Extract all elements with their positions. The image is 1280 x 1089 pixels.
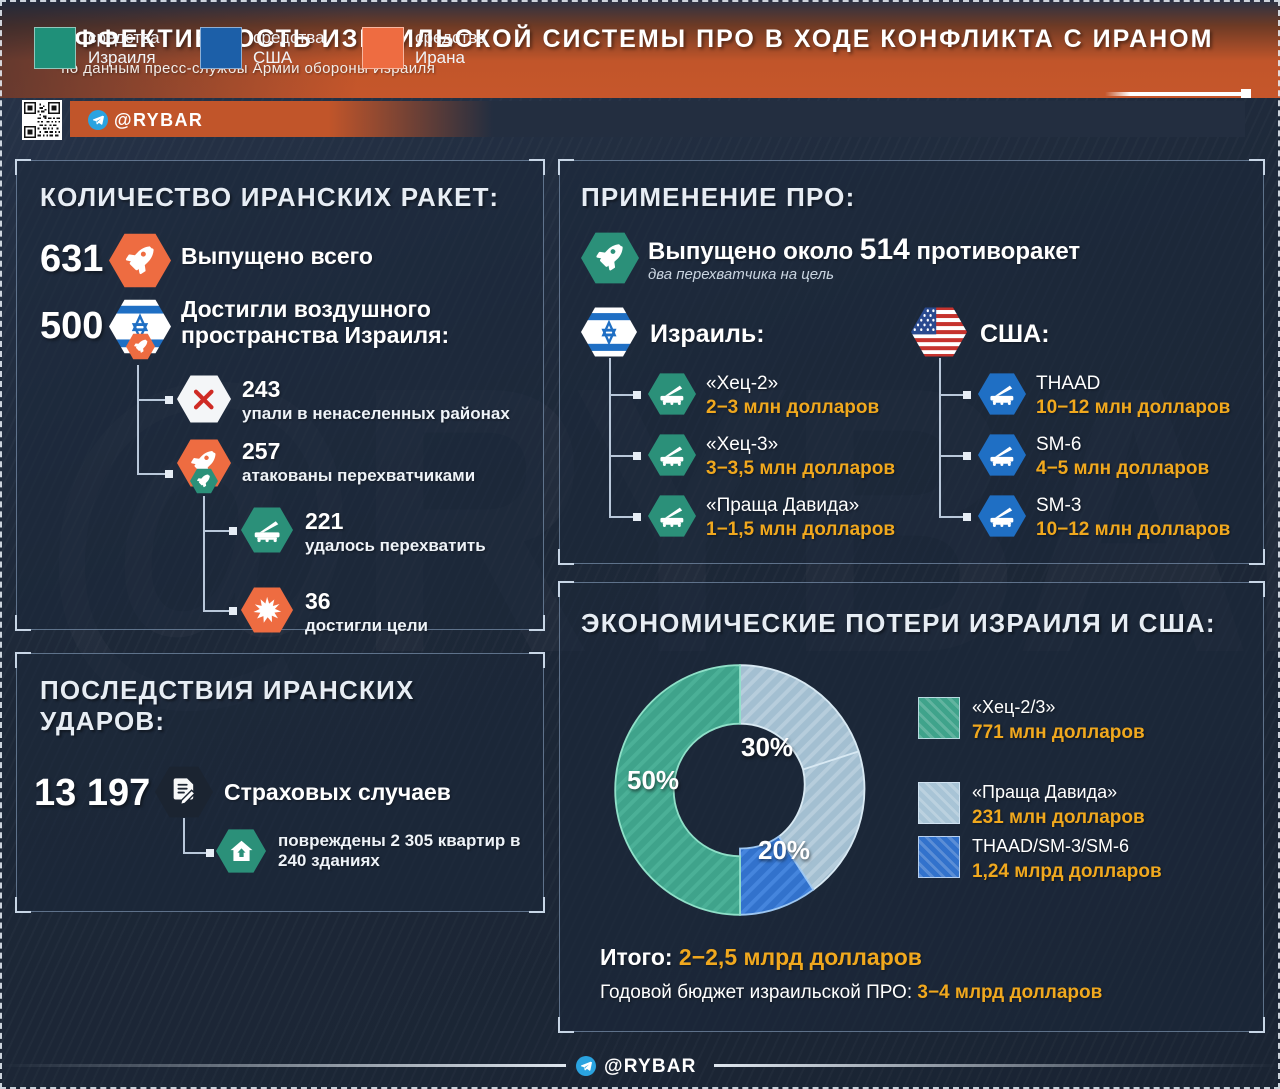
system-price-hetz3: 3−3,5 млн долларов <box>706 458 895 480</box>
system-price-sm6: 4−5 млн долларов <box>1036 458 1209 480</box>
abm-headline-number: 514 <box>860 233 910 266</box>
tree-connector-nub <box>633 452 641 460</box>
corner-bracket <box>1249 159 1265 175</box>
system-price-sm3: 10−12 млн долларов <box>1036 519 1230 541</box>
chart-legend-swatch-hetz <box>918 697 960 739</box>
donut-label-20: 20% <box>758 835 810 866</box>
chart-legend-name-us-systems: THAAD/SM-3/SM-6 <box>972 836 1129 857</box>
system-name-thaad: THAAD <box>1036 373 1100 395</box>
economic-budget-value: 3−4 млрд долларов <box>917 982 1102 1003</box>
legend-label-usa: средства США <box>253 28 348 69</box>
legend-swatch-iran <box>362 27 404 69</box>
corner-bracket <box>558 549 574 565</box>
chart-legend-amount-hetz: 771 млн долларов <box>972 722 1145 744</box>
donut-label-50: 50% <box>627 765 679 796</box>
abm-headline-pre: Выпущено около <box>648 238 860 265</box>
economic-budget-line: Годовой бюджет израильской ПРО: 3−4 млрд… <box>600 982 1102 1004</box>
system-name-sm6: SM-6 <box>1036 434 1081 456</box>
chart-legend-amount-us-systems: 1,24 млрд долларов <box>972 861 1162 883</box>
system-price-hetz2: 2−3 млн долларов <box>706 397 879 419</box>
legend-label-iran: средства Ирана <box>415 28 510 69</box>
tree-connector-vertical <box>939 358 941 518</box>
system-price-davids-sling: 1−1,5 млн долларов <box>706 519 895 541</box>
panel-legend: средства Израиля средства США средства И… <box>0 0 528 95</box>
chart-legend-name-hetz: «Хец-2/3» <box>972 697 1055 718</box>
abm-headline-note: два перехватчика на цель <box>648 266 834 283</box>
chart-legend-name-davids-sling: «Праща Давида» <box>972 782 1117 803</box>
tree-connector-nub <box>963 391 971 399</box>
panel-title-abm: ПРИМЕНЕНИЕ ПРО: <box>581 182 855 213</box>
corner-bracket <box>1249 549 1265 565</box>
country-label-usa: США: <box>980 320 1050 349</box>
telegram-icon[interactable] <box>576 1056 596 1076</box>
tree-connector-nub <box>633 513 641 521</box>
legend-swatch-israel <box>34 27 76 69</box>
system-name-hetz3: «Хец-3» <box>706 434 778 456</box>
system-name-hetz2: «Хец-2» <box>706 373 778 395</box>
abm-headline: Выпущено около 514 противоракет <box>648 233 1080 267</box>
system-price-thaad: 10−12 млн долларов <box>1036 397 1230 419</box>
footer: @RYBAR <box>0 1040 1280 1089</box>
economic-total-label: Итого: <box>600 944 673 970</box>
legend-swatch-usa <box>200 27 242 69</box>
economic-budget-label: Годовой бюджет израильской ПРО: <box>600 982 912 1003</box>
corner-bracket <box>1249 1017 1265 1033</box>
chart-legend-swatch-us-systems <box>918 836 960 878</box>
system-name-davids-sling: «Праща Давида» <box>706 495 859 517</box>
donut-label-30: 30% <box>741 732 793 763</box>
corner-bracket <box>558 1017 574 1033</box>
legend-label-israel: средства Израиля <box>88 28 183 69</box>
chart-legend-amount-davids-sling: 231 млн долларов <box>972 807 1145 829</box>
corner-bracket <box>558 581 574 597</box>
panel-title-economic: ЭКОНОМИЧЕСКИЕ ПОТЕРИ ИЗРАИЛЯ И США: <box>581 608 1216 639</box>
footer-rule-left <box>0 1064 566 1067</box>
corner-bracket <box>1249 581 1265 597</box>
country-label-israel: Израиль: <box>650 320 765 349</box>
system-name-sm3: SM-3 <box>1036 495 1081 517</box>
economic-total-line: Итого: 2−2,5 млрд долларов <box>600 944 922 971</box>
footer-brand-name: @RYBAR <box>604 1056 697 1078</box>
footer-rule-right <box>714 1064 1280 1067</box>
tree-connector-vertical <box>609 358 611 518</box>
abm-headline-post: противоракет <box>910 238 1080 265</box>
corner-bracket <box>558 159 574 175</box>
tree-connector-nub <box>633 391 641 399</box>
tree-connector-nub <box>963 513 971 521</box>
tree-connector-nub <box>963 452 971 460</box>
chart-legend-swatch-davids-sling <box>918 782 960 824</box>
economic-total-value: 2−2,5 млрд долларов <box>679 944 922 970</box>
